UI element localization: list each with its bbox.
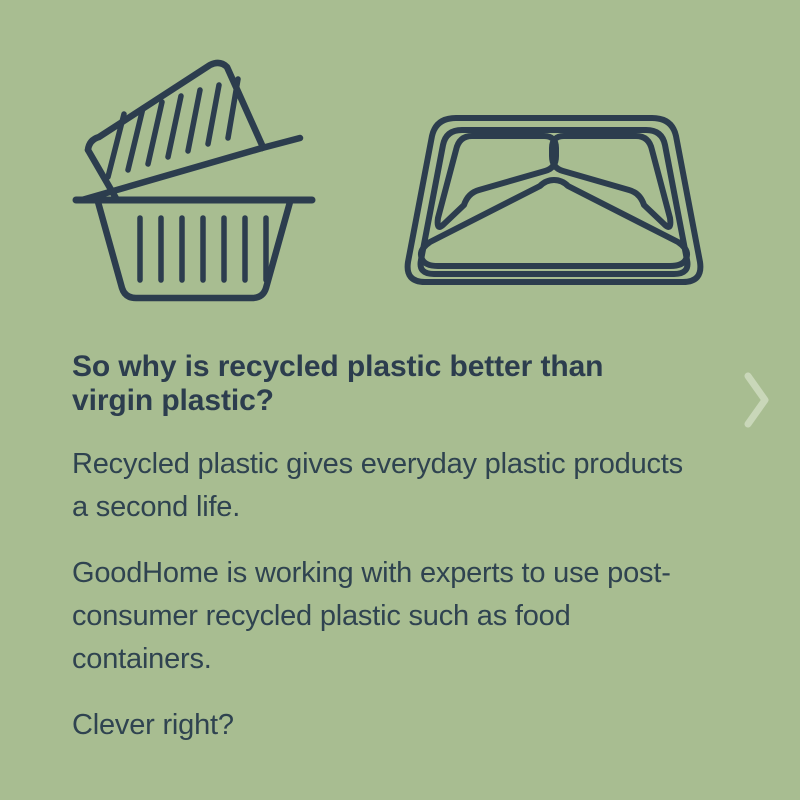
chevron-right-icon <box>738 368 774 432</box>
next-slide-button[interactable] <box>738 368 774 432</box>
compartment-food-tray-icon <box>404 112 704 297</box>
body-paragraph: GoodHome is working with experts to use … <box>72 552 692 680</box>
page-title: So why is recycled plastic better than v… <box>72 350 652 417</box>
clamshell-food-container-icon <box>62 52 342 317</box>
text-content: So why is recycled plastic better than v… <box>72 350 692 747</box>
body-paragraph: Recycled plastic gives everyday plastic … <box>72 443 692 528</box>
illustration-area <box>0 0 800 330</box>
promo-slide: So why is recycled plastic better than v… <box>0 0 800 800</box>
body-paragraph: Clever right? <box>72 704 692 747</box>
